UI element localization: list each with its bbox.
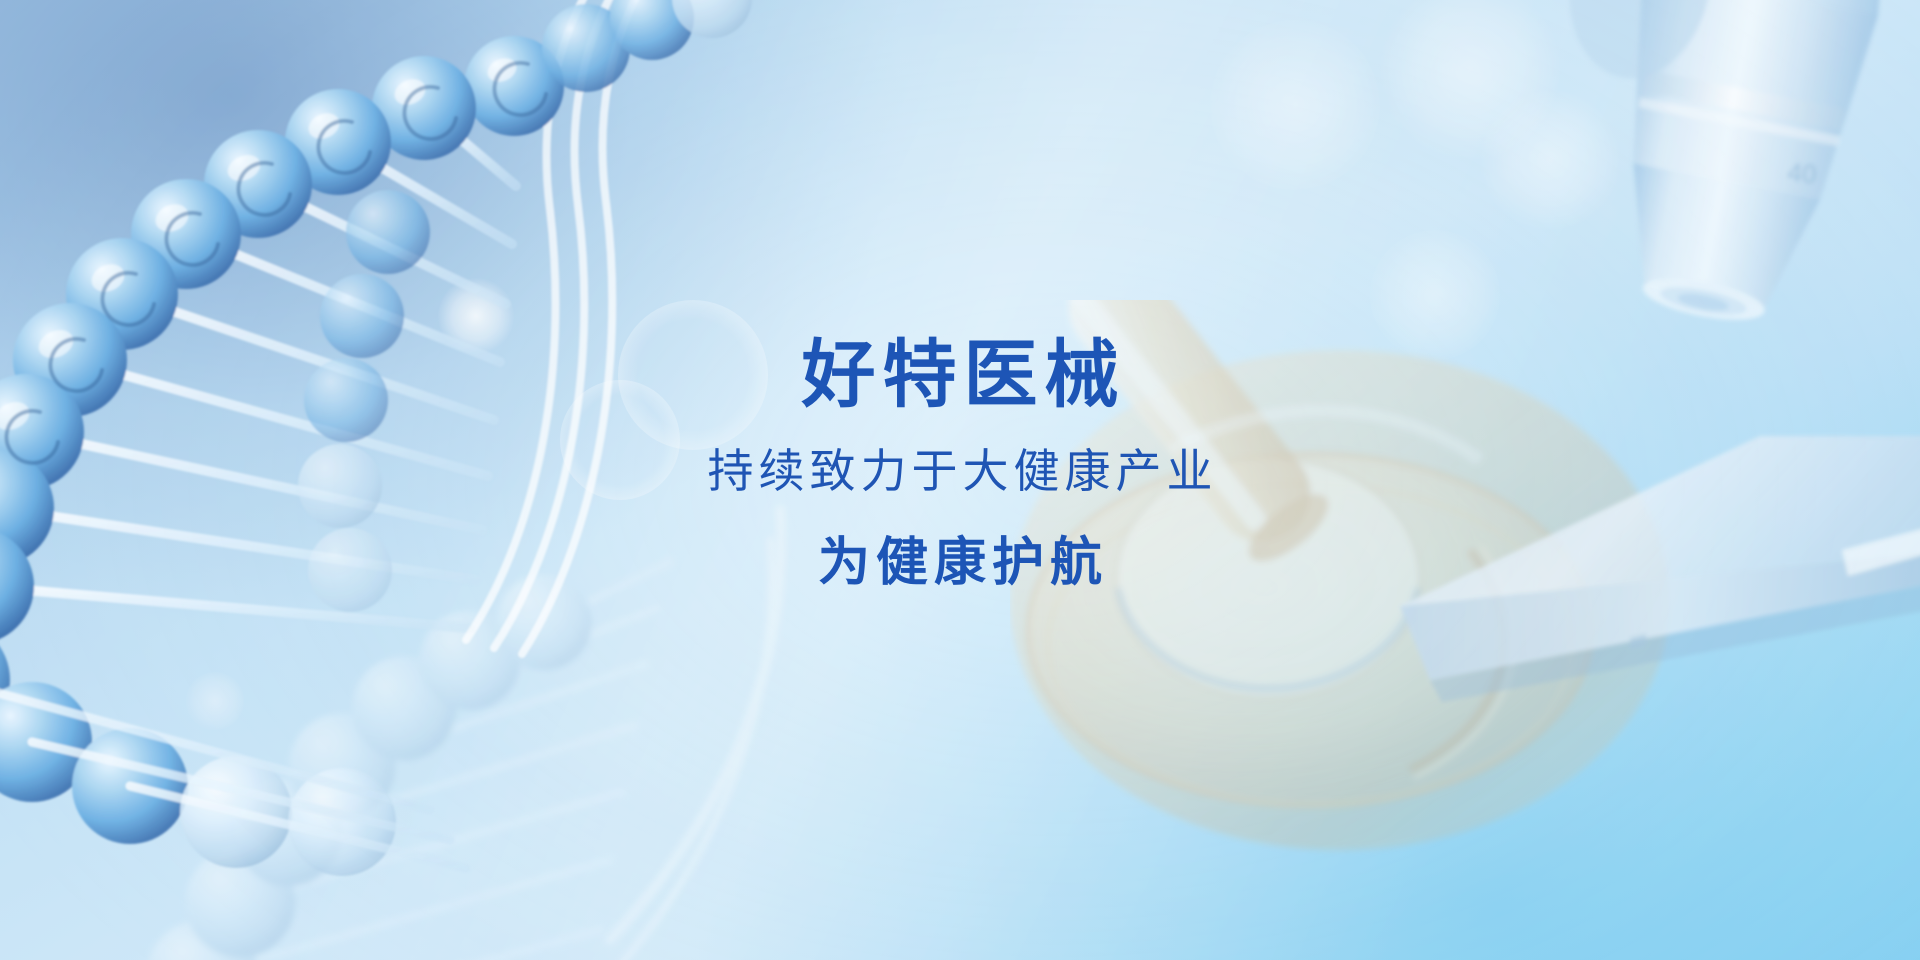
brand-title: 好特医械 [0, 336, 1920, 414]
brand-subtitle: 持续致力于大健康产业 [0, 446, 1920, 497]
brand-tagline: 为健康护航 [0, 535, 1920, 592]
hero-headline-block: 好特医械 持续致力于大健康产业 为健康护航 [0, 336, 1920, 592]
hero-banner: 40 [0, 0, 1920, 960]
